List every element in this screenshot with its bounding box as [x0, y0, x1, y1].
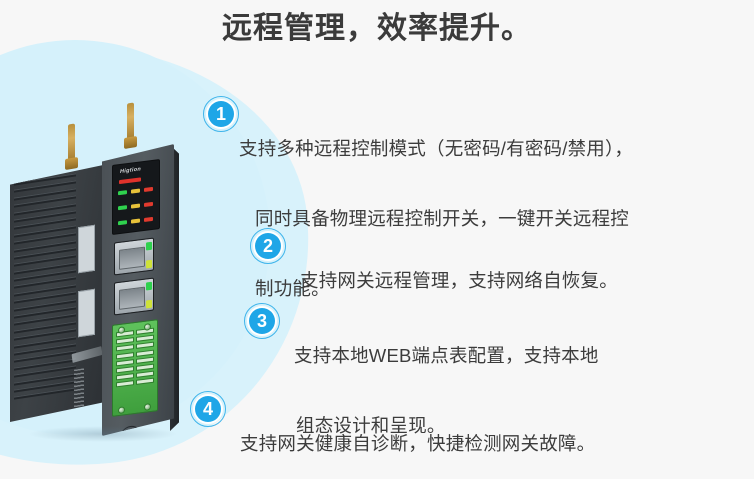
device-side-logo [72, 346, 103, 363]
ethernet-link-led-1 [146, 242, 152, 251]
feature-badge-1: 1 [203, 96, 239, 132]
led-row-2 [118, 201, 158, 210]
feature-badge-4: 4 [190, 391, 226, 427]
feature-text-2-line-1: 支持网关远程管理，支持网络自恢复。 [300, 263, 618, 298]
terminal-screw-4 [144, 403, 151, 411]
feature-badge-2: 2 [250, 228, 286, 264]
terminal-screw-3 [118, 406, 125, 414]
feature-text-1-line-1: 支持多种远程控制模式（无密码/有密码/禁用）， [239, 131, 754, 166]
antenna-right-base [124, 136, 137, 149]
feature-item-4: 4 支持网关健康自诊断，快捷检测网关故障。 [190, 391, 595, 479]
screw-terminal-block [112, 319, 158, 417]
heatsink-fins [14, 173, 76, 414]
rj45-jack-2 [119, 287, 145, 310]
feature-badge-3: 3 [244, 303, 280, 339]
led-green-2 [118, 205, 127, 210]
device-front-panel: Higtion [102, 144, 174, 436]
device-label-sticker-bottom [78, 289, 95, 338]
led-row-1 [118, 186, 158, 195]
ethernet-act-led-2 [146, 300, 152, 309]
led-yellow-3 [131, 219, 140, 224]
badge-number-2: 2 [255, 233, 281, 259]
ethernet-link-led-2 [146, 282, 152, 291]
badge-number-4: 4 [195, 396, 221, 422]
ethernet-port-1 [114, 238, 154, 276]
led-yellow-1 [131, 189, 140, 194]
page-title: 远程管理，效率提升。 [0, 9, 754, 49]
led-row-3 [118, 216, 158, 225]
device-label-sticker-top [78, 225, 95, 274]
device-side-spec-text [74, 368, 84, 431]
badge-number-3: 3 [249, 308, 275, 334]
led-red-2 [144, 202, 153, 207]
led-red-1 [144, 187, 153, 192]
feature-text-3-line-1: 支持本地WEB端点表配置，支持本地 [294, 338, 599, 373]
rj45-jack-1 [119, 247, 145, 270]
led-green-3 [118, 220, 127, 225]
device-side-panel [10, 164, 108, 422]
power-led-bar [119, 177, 141, 183]
ethernet-port-2 [114, 278, 154, 316]
badge-number-1: 1 [208, 101, 234, 127]
led-green-1 [118, 190, 127, 195]
led-indicator-panel: Higtion [112, 159, 160, 235]
antenna-left-base [65, 157, 78, 170]
device-brand-logo: Higtion [120, 166, 141, 175]
led-red-3 [144, 217, 153, 222]
feature-text-4: 支持网关健康自诊断，快捷检测网关故障。 [240, 391, 595, 479]
ethernet-act-led-1 [146, 260, 152, 269]
promo-banner: 远程管理，效率提升。 [0, 0, 754, 479]
gateway-device-image: Higtion [10, 96, 225, 441]
feature-text-4-line-1: 支持网关健康自诊断，快捷检测网关故障。 [240, 426, 595, 461]
led-yellow-2 [131, 204, 140, 209]
device-shadow [28, 426, 178, 442]
